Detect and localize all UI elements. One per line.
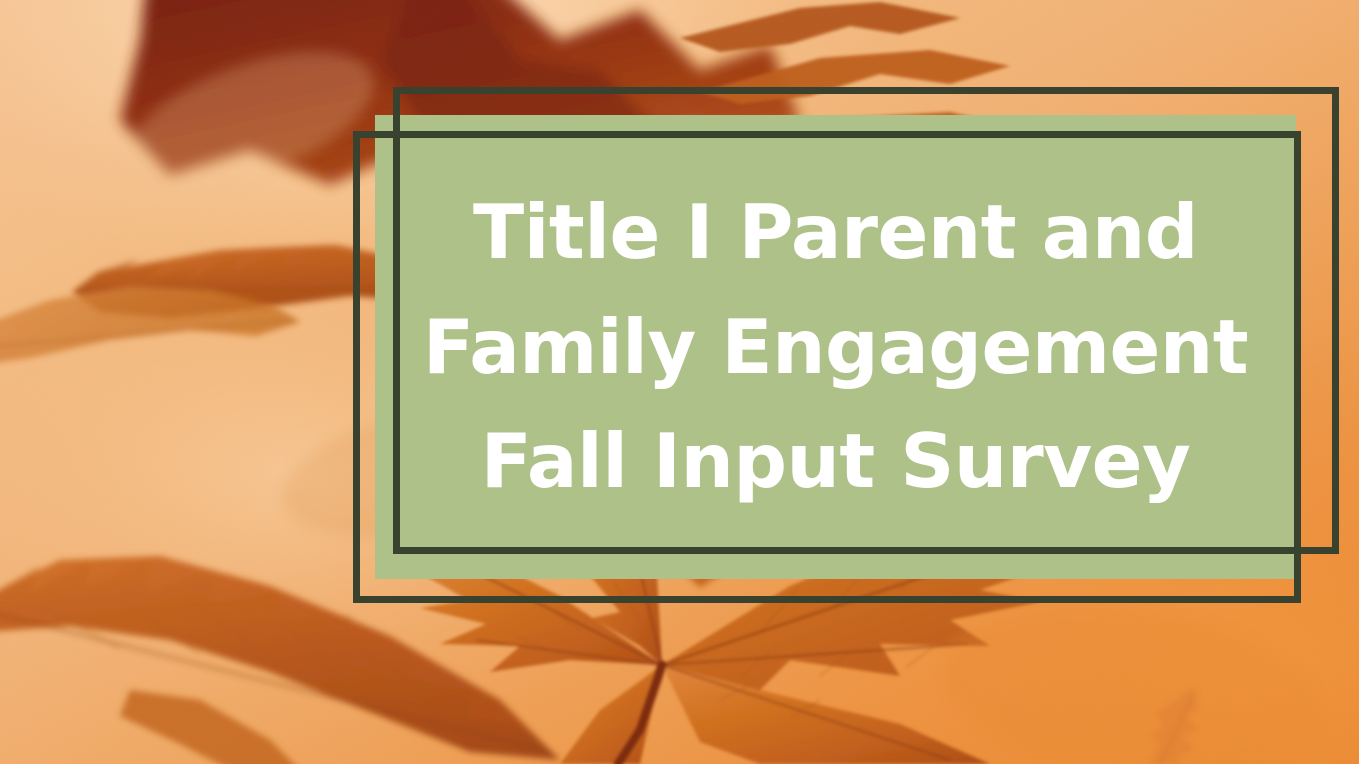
title-line-1: Title I Parent and [473,175,1198,290]
title-line-3: Fall Input Survey [481,404,1191,519]
page-title: Title I Parent and Family Engagement Fal… [375,115,1296,579]
title-line-2: Family Engagement [423,290,1248,405]
title-slide: Title I Parent and Family Engagement Fal… [0,0,1359,764]
